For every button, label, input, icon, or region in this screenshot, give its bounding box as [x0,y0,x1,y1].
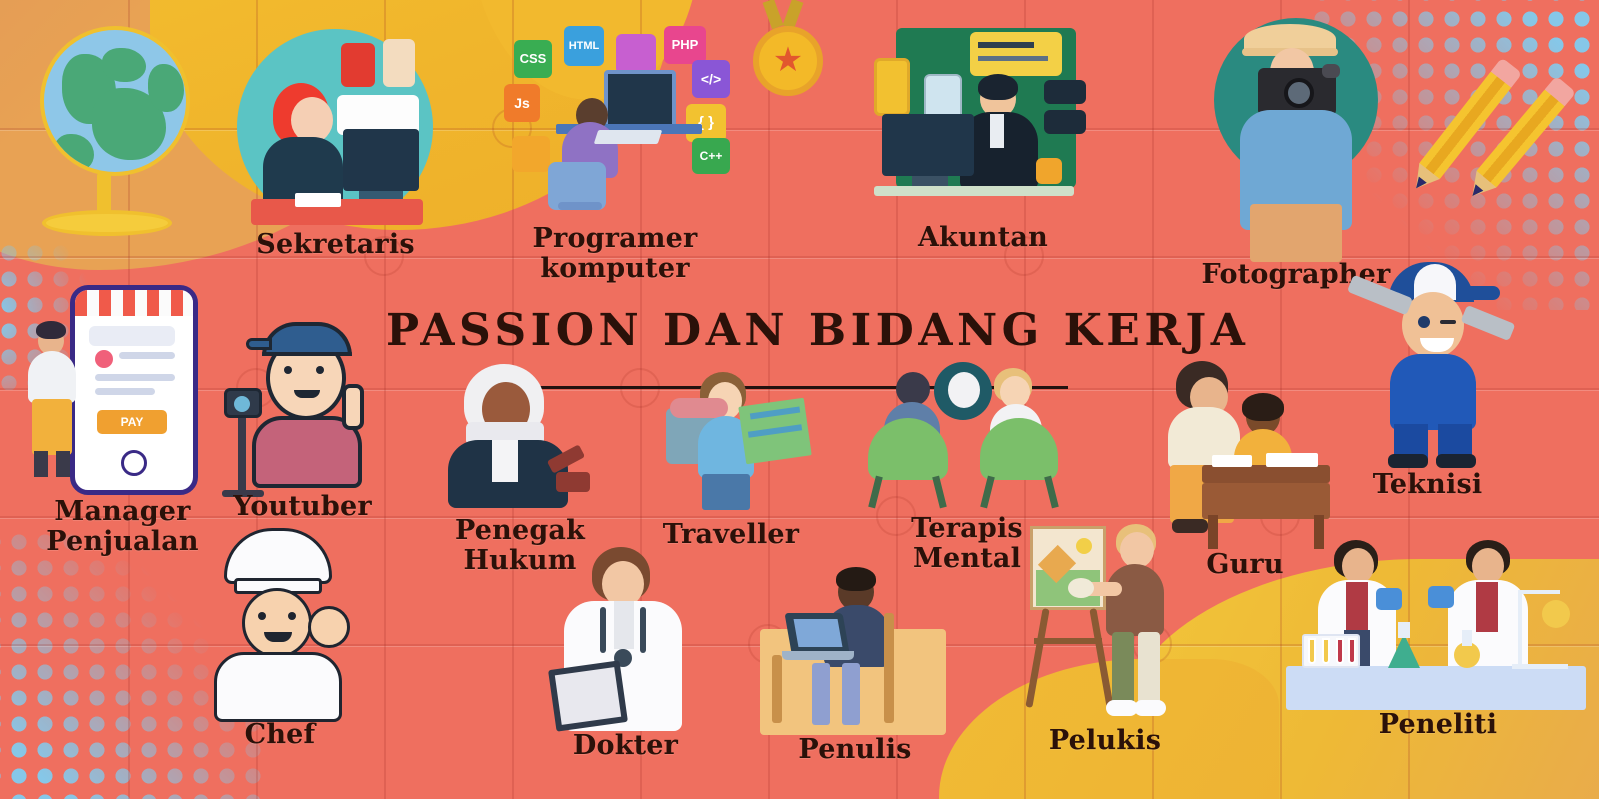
doctor-illustration [538,545,713,730]
akuntan-tile[interactable]: Akuntan [868,18,1098,273]
chef-tile[interactable]: Chef [190,520,370,765]
peneliti-tile[interactable]: Peneliti [1278,538,1598,768]
secretary-illustration [233,25,438,230]
tag-js: Js [504,84,540,122]
tag-braces: { } [686,104,726,142]
page-title: PASSION DAN BIDANG KERJA [386,305,1146,356]
dokter-tile[interactable]: Dokter [538,545,713,765]
tag-code: </> [692,60,730,98]
pay-button[interactable]: PAY [97,410,167,434]
penulis-tile[interactable]: Penulis [760,555,950,770]
tag-search [512,136,550,172]
accountant-illustration [868,18,1098,218]
teknisi-tile[interactable]: Teknisi [1340,258,1515,498]
globe-icon [22,12,212,242]
painter-illustration [1020,520,1190,725]
pelukis-label: Pelukis [1020,726,1190,756]
programer-tile[interactable]: CSS HTML PHP </> Js { } C++ Programer ko… [500,12,730,302]
youtuber-label: Youtuber [210,492,395,522]
photographer-illustration [1206,14,1386,254]
chef-illustration [190,520,370,720]
sekretaris-tile[interactable]: Sekretaris [233,25,438,275]
medal-icon: ★ [735,0,835,130]
penulis-label: Penulis [760,735,950,765]
tag-gear [616,34,656,74]
law-enforcement-illustration [430,360,610,510]
youtuber-illustration [210,300,395,495]
youtuber-tile[interactable]: Youtuber [210,300,395,540]
researcher-illustration [1278,538,1598,710]
teknisi-label: Teknisi [1340,470,1515,500]
dokter-label: Dokter [538,731,713,761]
mental-therapist-illustration [862,362,1072,510]
pencils-icon [1430,70,1599,250]
chef-label: Chef [190,720,370,750]
pelukis-tile[interactable]: Pelukis [1020,520,1190,768]
tag-php: PHP [664,26,706,64]
tag-css: CSS [514,40,552,78]
sekretaris-label: Sekretaris [233,230,438,260]
writer-illustration [760,555,950,735]
tag-html: HTML [564,26,604,66]
tag-cpp: C++ [692,138,730,174]
poster-canvas: Sekretaris CSS HTML PHP </> Js { } C++ P… [0,0,1599,799]
programer-label: Programer komputer [500,224,730,283]
akuntan-label: Akuntan [868,223,1098,253]
peneliti-label: Peneliti [1278,710,1598,740]
technician-illustration [1340,258,1515,468]
programmer-illustration: CSS HTML PHP </> Js { } C++ [500,12,730,220]
sales-manager-illustration: PAY [10,275,225,505]
traveller-illustration [646,370,816,515]
